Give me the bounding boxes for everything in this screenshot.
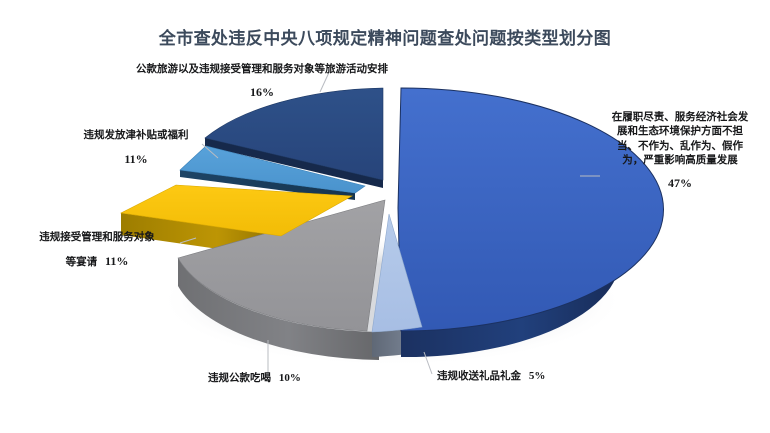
slice-label-banquet: 违规接受管理和服务对象 等宴请 11% (8, 230, 186, 270)
slice-label-banquet-line2: 等宴请 (66, 256, 98, 268)
slice-label-banquet-line1: 违规接受管理和服务对象 (39, 231, 155, 243)
slice-label-gift-text: 违规收送礼品礼金 (437, 370, 521, 382)
slice-label-duty-line4: 为，严重影响高质量发展 (622, 154, 738, 166)
slice-label-duty-line3: 当、不作为、乱作为、假作 (617, 140, 743, 152)
slice-label-subsidy: 违规发放津补贴或福利 11% (60, 128, 212, 168)
slice-label-eat-text: 违规公款吃喝 (208, 372, 271, 384)
slice-label-duty: 在履职尽责、服务经济社会发 展和生态环境保护方面不担 当、不作为、乱作为、假作 … (596, 110, 764, 191)
slice-label-travel: 公款旅游以及违规接受管理和服务对象等旅游活动安排 16% (112, 62, 412, 101)
slice-label-duty-pct: 47% (596, 175, 764, 192)
slice-label-travel-text: 公款旅游以及违规接受管理和服务对象等旅游活动安排 (136, 63, 388, 75)
slice-label-gift-pct: 5% (529, 370, 546, 382)
slice-label-duty-line2: 展和生态环境保护方面不担 (617, 125, 743, 137)
slice-label-travel-pct: 16% (112, 84, 412, 101)
slice-label-eat: 违规公款吃喝 10% (208, 371, 301, 386)
slice-label-gift: 违规收送礼品礼金 5% (437, 369, 545, 384)
slice-label-subsidy-text: 违规发放津补贴或福利 (84, 129, 189, 141)
slice-label-subsidy-pct: 11% (60, 151, 212, 168)
slice-label-banquet-pct: 11% (105, 254, 128, 268)
slice-label-duty-line1: 在履职尽责、服务经济社会发 (612, 111, 749, 123)
pie-chart-figure: 全市查处违反中央八项规定精神问题查处问题按类型划分图 (0, 0, 770, 433)
slice-label-eat-pct: 10% (279, 372, 301, 384)
